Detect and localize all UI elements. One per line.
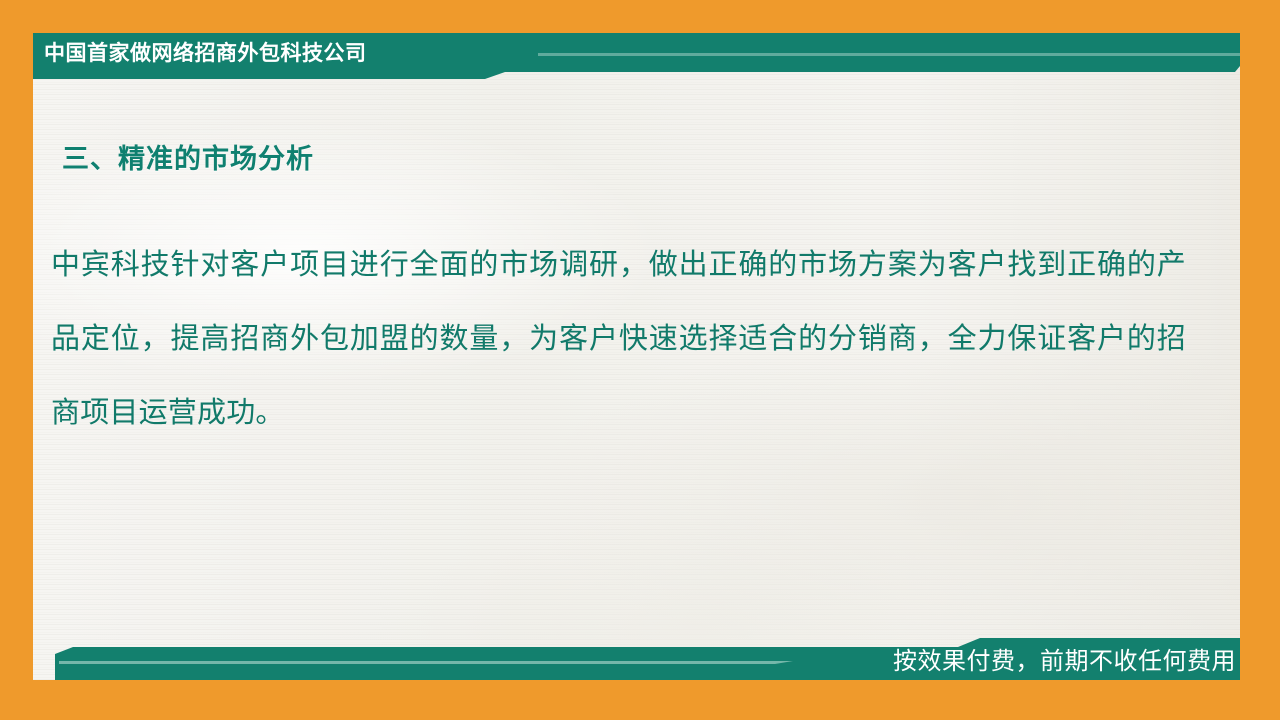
header-tagline: 中国首家做网络招商外包科技公司 [44, 39, 367, 69]
footer-divider-line [59, 661, 793, 664]
footer-slogan: 按效果付费，前期不收任何费用 [893, 647, 1236, 677]
header-divider-line [538, 53, 1240, 56]
slide-canvas: 中国首家做网络招商外包科技公司 三、精准的市场分析 中宾科技针对客户项目进行全面… [0, 0, 1280, 720]
body-paragraph: 中宾科技针对客户项目进行全面的市场调研，做出正确的市场方案为客户找到正确的产品定… [51, 228, 1186, 450]
section-heading: 三、精准的市场分析 [62, 137, 314, 176]
